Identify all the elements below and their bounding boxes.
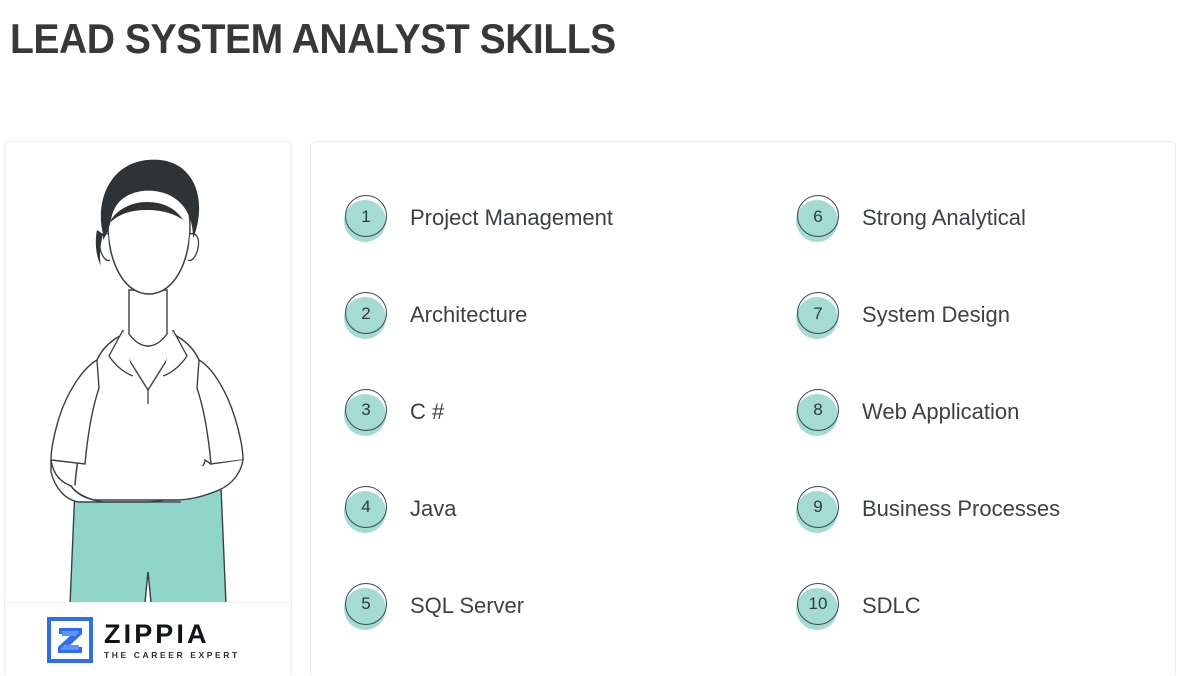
badge-number: 1	[345, 195, 387, 237]
badge-number: 10	[797, 583, 839, 625]
skills-grid: 1 Project Management 6 Strong Analytical…	[311, 142, 1177, 676]
zippia-logo[interactable]: ZIPPIA THE CAREER EXPERT	[47, 617, 240, 663]
skill-item-7[interactable]: 7 System Design	[771, 267, 1177, 364]
skill-number-badge-7: 7	[793, 290, 843, 340]
skill-item-10[interactable]: 10 SDLC	[771, 557, 1177, 654]
skill-label: C #	[410, 397, 444, 427]
page-title: LEAD SYSTEM ANALYST SKILLS	[10, 14, 616, 64]
skill-number-badge-3: 3	[341, 387, 391, 437]
badge-number: 3	[345, 389, 387, 431]
skill-label: SDLC	[862, 591, 921, 621]
skill-number-badge-1: 1	[341, 193, 391, 243]
skill-number-badge-4: 4	[341, 484, 391, 534]
badge-number: 7	[797, 292, 839, 334]
skill-label: Web Application	[862, 397, 1019, 427]
skill-number-badge-8: 8	[793, 387, 843, 437]
skill-number-badge-9: 9	[793, 484, 843, 534]
skill-label: SQL Server	[410, 591, 524, 621]
skill-item-5[interactable]: 5 SQL Server	[311, 557, 771, 654]
badge-number: 9	[797, 486, 839, 528]
badge-number: 6	[797, 195, 839, 237]
skill-item-4[interactable]: 4 Java	[311, 460, 771, 557]
skill-item-9[interactable]: 9 Business Processes	[771, 460, 1177, 557]
skill-item-2[interactable]: 2 Architecture	[311, 267, 771, 364]
logo-band: ZIPPIA THE CAREER EXPERT	[5, 602, 292, 675]
badge-number: 4	[345, 486, 387, 528]
skill-item-8[interactable]: 8 Web Application	[771, 364, 1177, 461]
skill-item-6[interactable]: 6 Strong Analytical	[771, 170, 1177, 267]
skill-number-badge-6: 6	[793, 193, 843, 243]
person-illustration	[5, 142, 292, 675]
skill-label: Strong Analytical	[862, 203, 1026, 233]
skills-card: 1 Project Management 6 Strong Analytical…	[310, 141, 1176, 675]
illustration-panel: ZIPPIA THE CAREER EXPERT	[4, 141, 292, 675]
logo-tagline: THE CAREER EXPERT	[104, 649, 240, 661]
infographic-page: LEAD SYSTEM ANALYST SKILLS	[0, 0, 1200, 675]
skill-number-badge-5: 5	[341, 581, 391, 631]
skill-label: Project Management	[410, 203, 613, 233]
badge-number: 5	[345, 583, 387, 625]
zippia-z-logo-icon	[47, 617, 93, 663]
badge-number: 2	[345, 292, 387, 334]
skill-item-3[interactable]: 3 C #	[311, 364, 771, 461]
badge-number: 8	[797, 389, 839, 431]
logo-wordmark: ZIPPIA	[104, 620, 240, 648]
skill-label: Java	[410, 494, 456, 524]
skill-label: System Design	[862, 300, 1010, 330]
skill-label: Architecture	[410, 300, 527, 330]
skill-number-badge-2: 2	[341, 290, 391, 340]
skill-number-badge-10: 10	[793, 581, 843, 631]
skill-label: Business Processes	[862, 494, 1060, 524]
skill-item-1[interactable]: 1 Project Management	[311, 170, 771, 267]
logo-text: ZIPPIA THE CAREER EXPERT	[104, 620, 240, 661]
